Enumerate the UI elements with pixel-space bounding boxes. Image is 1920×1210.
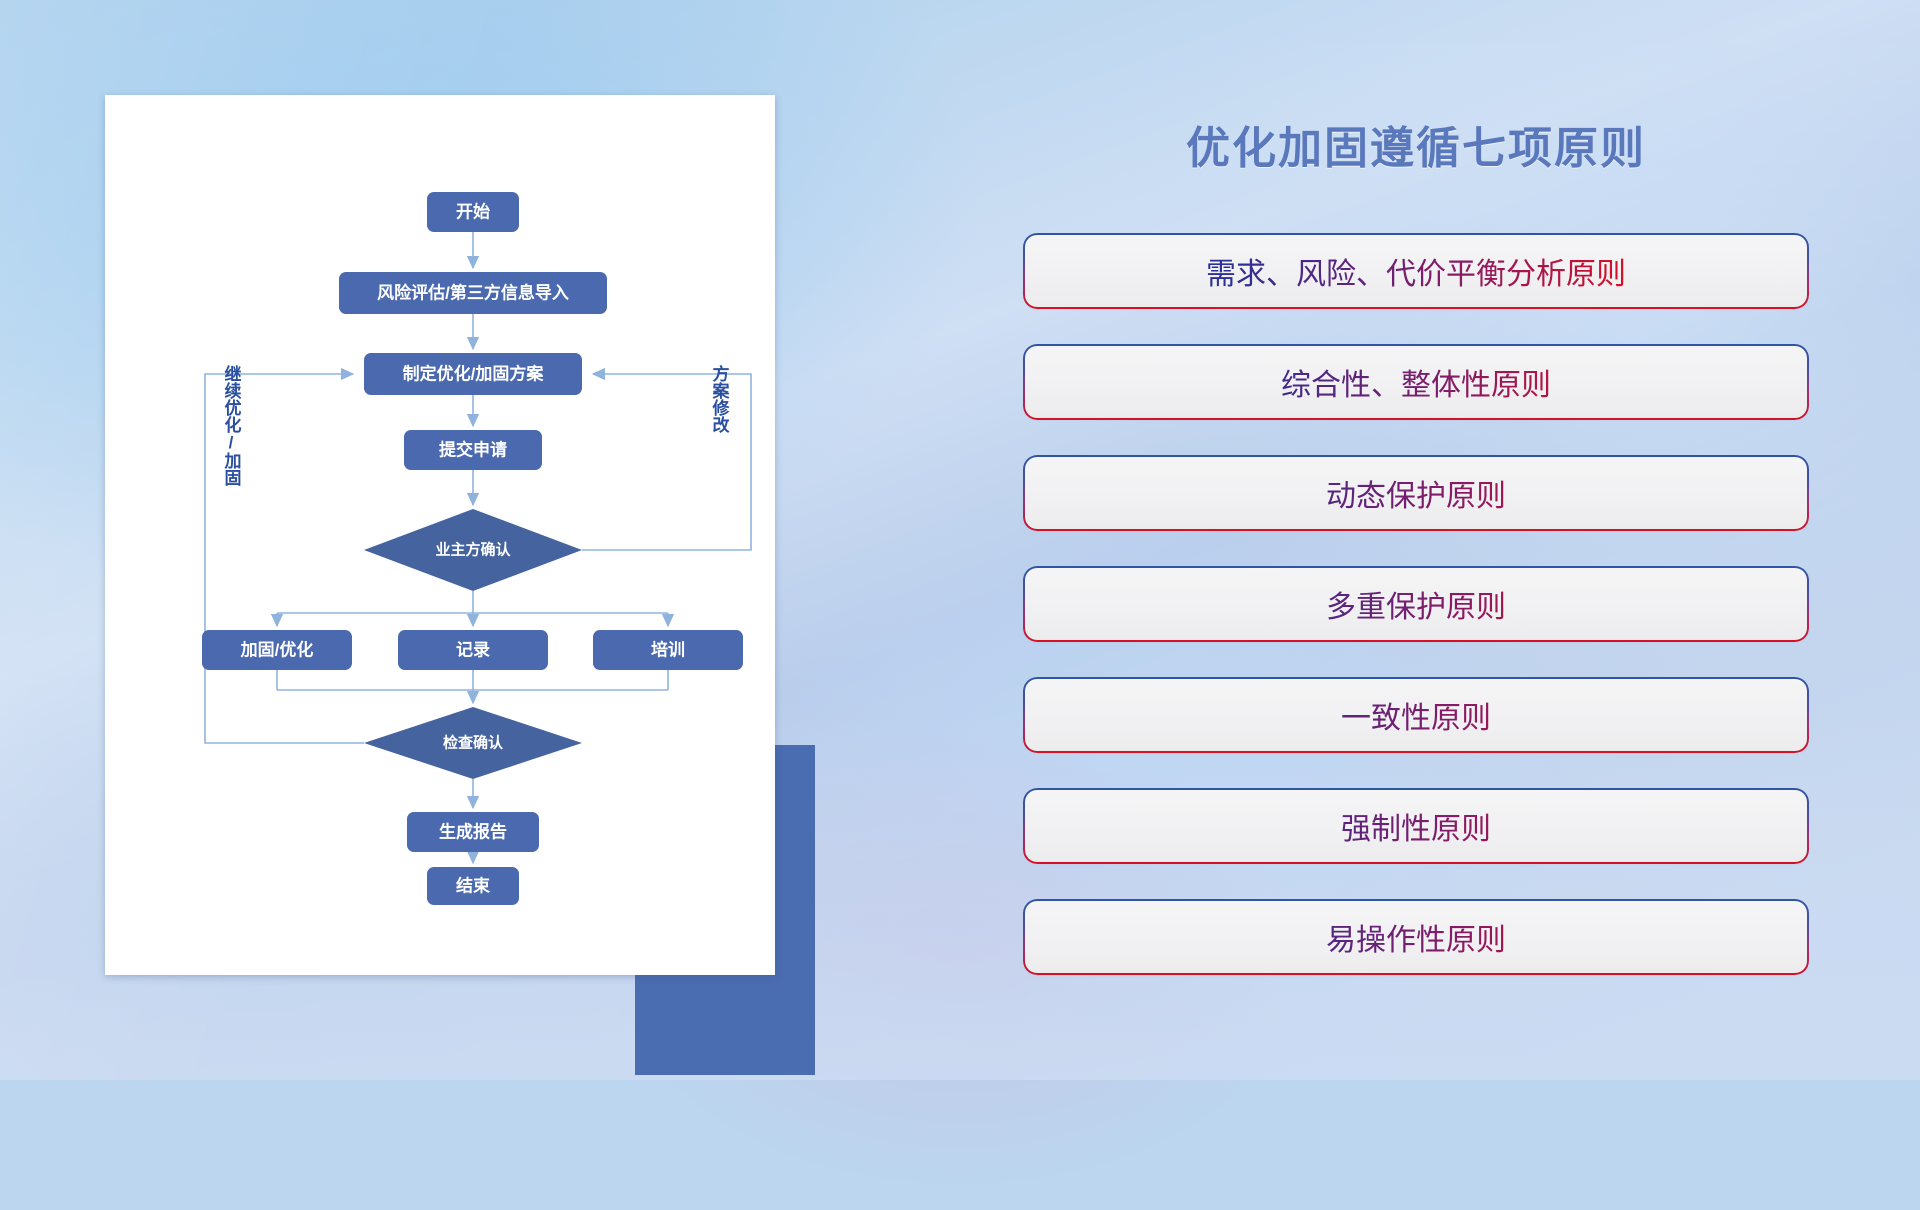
flow-node-label: 制定优化/加固方案 [403,364,545,384]
flow-node-label: 生成报告 [439,822,507,842]
flow-node-label: 加固/优化 [240,640,314,660]
principle-card-label: 强制性原则 [1025,790,1807,862]
flow-node-label: 业主方确认 [435,541,511,559]
flow-node-label: 风险评估/第三方信息导入 [377,283,569,303]
flow-node-label: 开始 [456,202,490,222]
principle-card-label: 一致性原则 [1025,679,1807,751]
flow-node-plan[interactable]: 制定优化/加固方案 [364,353,582,395]
page-title: 优化加固遵循七项原则 [1025,112,1807,176]
flow-side-label-right: 方案修改 [710,364,731,434]
principles-card-list: 需求、风险、代价平衡分析原则 综合性、整体性原则 动态保护原则 多重保护原则 一… [1025,235,1807,1012]
flow-node-start[interactable]: 开始 [427,192,519,232]
flow-side-label-left: 继续优化/加固 [222,364,243,487]
principle-card-1[interactable]: 需求、风险、代价平衡分析原则 [1025,235,1807,307]
flow-node-label: 记录 [456,641,490,660]
flowchart-white-card: 开始 风险评估/第三方信息导入 制定优化/加固方案 提交申请 [105,95,775,975]
principle-card-label: 多重保护原则 [1025,568,1807,640]
principle-card-7[interactable]: 易操作性原则 [1025,901,1807,973]
principle-card-6[interactable]: 强制性原则 [1025,790,1807,862]
principle-card-label: 综合性、整体性原则 [1025,346,1807,418]
principle-card-label: 需求、风险、代价平衡分析原则 [1025,235,1807,307]
principle-card-4[interactable]: 多重保护原则 [1025,568,1807,640]
flow-node-check-confirm[interactable]: 检查确认 [364,707,582,779]
flow-node-record[interactable]: 记录 [398,630,548,670]
principle-card-5[interactable]: 一致性原则 [1025,679,1807,751]
flow-node-owner-confirm[interactable]: 业主方确认 [364,509,582,591]
principle-card-label: 动态保护原则 [1025,457,1807,529]
flow-node-end[interactable]: 结束 [427,867,519,905]
flow-node-risk-assessment[interactable]: 风险评估/第三方信息导入 [339,272,607,314]
flow-node-label: 提交申请 [439,440,507,460]
flow-node-training[interactable]: 培训 [593,630,743,670]
flow-node-submit[interactable]: 提交申请 [404,430,542,470]
flow-node-report[interactable]: 生成报告 [407,812,539,852]
flow-node-label: 结束 [456,876,490,896]
flowchart-panel: 开始 风险评估/第三方信息导入 制定优化/加固方案 提交申请 [105,95,775,975]
principle-card-label: 易操作性原则 [1025,901,1807,973]
flow-node-label: 培训 [651,640,685,660]
flow-node-reinforce[interactable]: 加固/优化 [202,630,352,670]
principles-panel: 优化加固遵循七项原则 需求、风险、代价平衡分析原则 综合性、整体性原则 动态保护… [1025,0,1807,1080]
principle-card-3[interactable]: 动态保护原则 [1025,457,1807,529]
flow-node-label: 检查确认 [443,734,504,752]
flowchart-diagram: 开始 风险评估/第三方信息导入 制定优化/加固方案 提交申请 [105,95,775,975]
principle-card-2[interactable]: 综合性、整体性原则 [1025,346,1807,418]
